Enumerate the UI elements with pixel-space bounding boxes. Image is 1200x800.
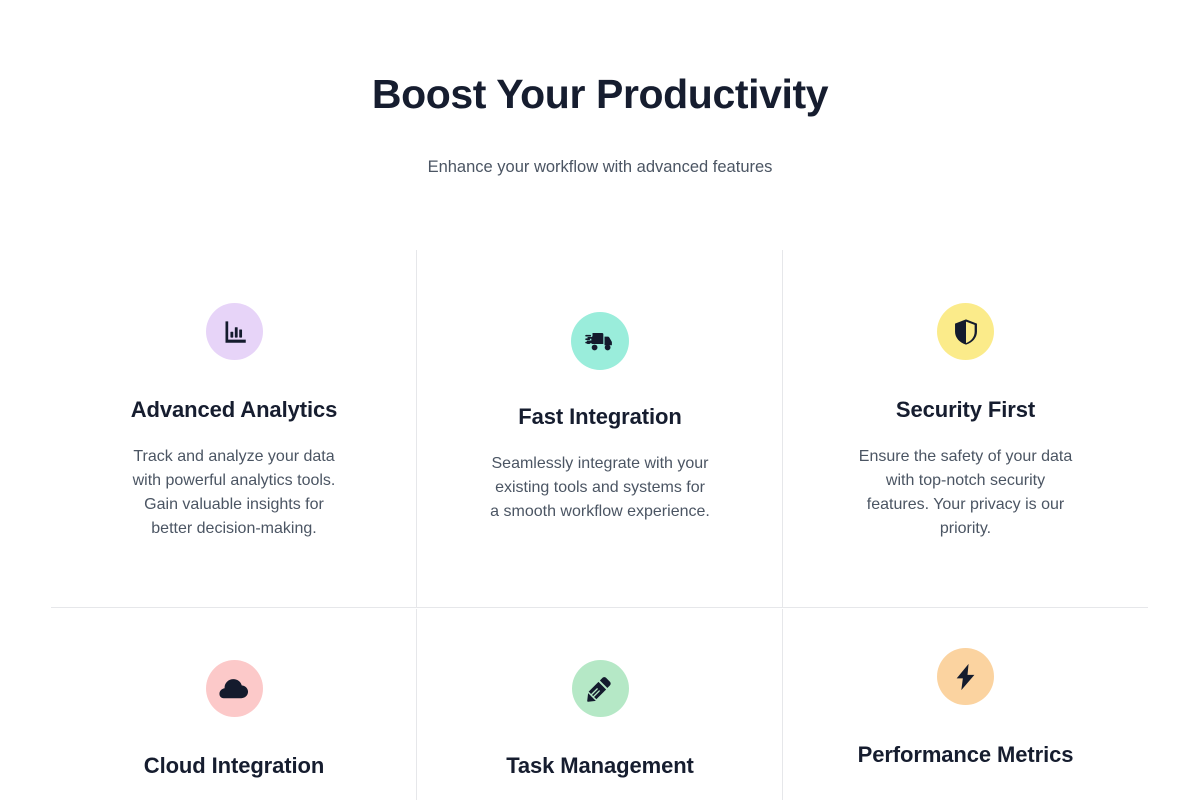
page-subtitle: Enhance your workflow with advanced feat… bbox=[0, 158, 1200, 178]
feature-description: Seamlessly integrate with your existing … bbox=[443, 452, 757, 524]
feature-title: Advanced Analytics bbox=[77, 396, 391, 424]
feature-description: Ensure the safety of your data with top-… bbox=[809, 445, 1122, 541]
shield-icon bbox=[937, 303, 994, 360]
pen-nib-icon bbox=[572, 660, 629, 717]
feature-grid-row-1: Advanced Analytics Track and analyze you… bbox=[51, 250, 1148, 608]
icon-container bbox=[809, 250, 1122, 360]
feature-title: Security First bbox=[809, 396, 1122, 424]
feature-title: Task Management bbox=[443, 752, 757, 780]
feature-description: Track and analyze your data with powerfu… bbox=[77, 445, 391, 541]
feature-card-task-management[interactable]: Task Management bbox=[417, 609, 783, 800]
cloud-icon bbox=[206, 660, 263, 717]
feature-card-fast-integration[interactable]: Fast Integration Seamlessly integrate wi… bbox=[417, 250, 783, 608]
icon-container bbox=[809, 609, 1122, 705]
feature-card-advanced-analytics[interactable]: Advanced Analytics Track and analyze you… bbox=[51, 250, 417, 608]
icon-container bbox=[443, 609, 757, 717]
feature-section-page: Boost Your Productivity Enhance your wor… bbox=[0, 0, 1200, 800]
delivery-truck-icon bbox=[571, 312, 629, 370]
hero-header: Boost Your Productivity Enhance your wor… bbox=[0, 0, 1200, 178]
lightning-bolt-icon bbox=[937, 648, 994, 705]
icon-container bbox=[77, 250, 391, 360]
feature-card-performance-metrics[interactable]: Performance Metrics bbox=[783, 609, 1148, 800]
feature-title: Performance Metrics bbox=[809, 741, 1122, 769]
icon-container bbox=[77, 609, 391, 717]
page-title: Boost Your Productivity bbox=[0, 74, 1200, 115]
bar-chart-icon bbox=[206, 303, 263, 360]
feature-card-cloud-integration[interactable]: Cloud Integration bbox=[51, 609, 417, 800]
feature-grid-row-2: Cloud Integration Task Management bbox=[51, 609, 1148, 800]
icon-container bbox=[443, 250, 757, 370]
feature-title: Cloud Integration bbox=[77, 752, 391, 780]
feature-title: Fast Integration bbox=[443, 403, 757, 431]
feature-card-security-first[interactable]: Security First Ensure the safety of your… bbox=[783, 250, 1148, 608]
